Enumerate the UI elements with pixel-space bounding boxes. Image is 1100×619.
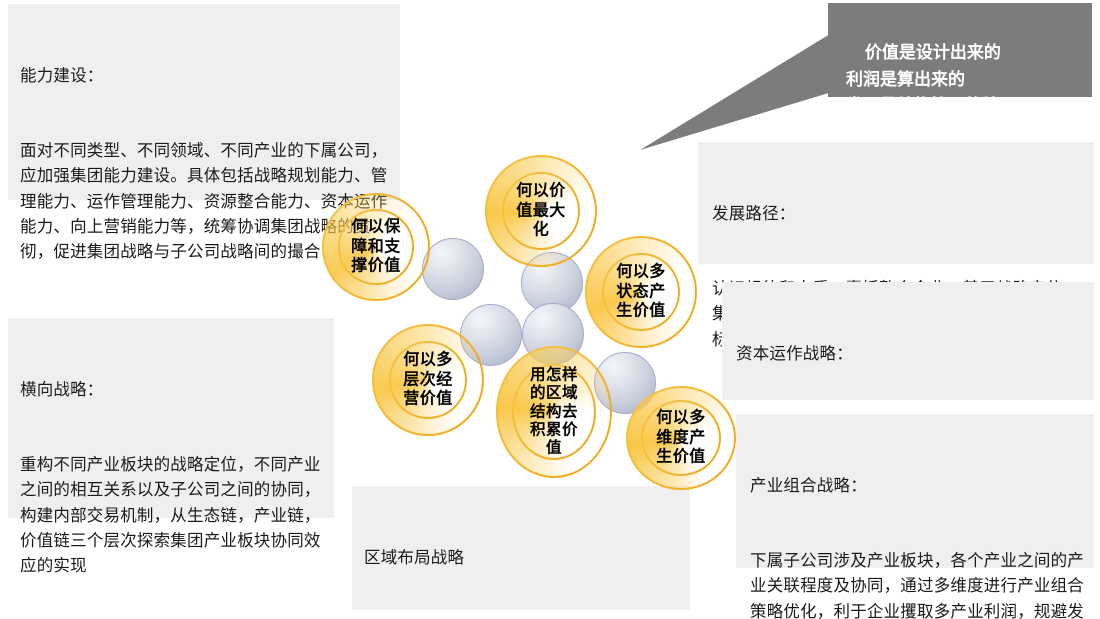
- panel-regional-layout-strategy: 区域布局战略 应该形成怎样的区域布局才能使得自己发展空间最大化，机遇相对充沛，风…: [352, 486, 690, 610]
- ring-maximize-value[interactable]: 何以价 值最大 化: [485, 155, 597, 267]
- panel-title: 发展路径：: [712, 202, 1084, 227]
- panel-capability-building: 能力建设： 面对不同类型、不同领域、不同产业的下属公司，应加强集团能力建设。具体…: [8, 4, 400, 200]
- panel-horizontal-strategy: 横向战略： 重构不同产业板块的战略定位，不同产业之间的相互关系以及子公司之间的协…: [8, 318, 334, 518]
- slide-canvas: 能力建设： 面对不同类型、不同领域、不同产业的下属公司，应加强集团能力建设。具体…: [0, 0, 1100, 619]
- ring-regional-structure-value[interactable]: 用怎样 的区域 结构去 积累价 值: [496, 346, 612, 478]
- ring-label: 何以多 维度产 生价值: [626, 409, 736, 468]
- callout-text: 价值是设计出来的 利润是算出来的 发展是结构管理的结果: [846, 43, 1016, 115]
- value-statement-callout: 价值是设计出来的 利润是算出来的 发展是结构管理的结果: [828, 3, 1092, 97]
- panel-title: 区域布局战略: [364, 546, 680, 571]
- panel-body: 下属子公司涉及产业板块，各个产业之间的产业关联程度及协同，通过多维度进行产业组合…: [750, 549, 1084, 619]
- ring-multi-level-operation[interactable]: 何以多 层次经 营价值: [372, 324, 484, 436]
- panel-capital-operation-strategy: 资本运作战略： 用资本驱动优势金融资源，有效利用多层次资本市场体系，探究未来的资…: [722, 282, 1094, 400]
- sphere-node-1: [422, 238, 484, 300]
- ring-label: 何以多 状态产 生价值: [585, 263, 697, 322]
- panel-development-path: 发展路径： 认识规律和本质，囊括整个企业，基于战略定位，集中解决企业走什么样的路…: [698, 142, 1094, 264]
- ring-label: 用怎样 的区域 结构去 积累价 值: [496, 366, 612, 457]
- panel-industry-portfolio-strategy: 产业组合战略： 下属子公司涉及产业板块，各个产业之间的产业关联程度及协同，通过多…: [736, 414, 1094, 568]
- panel-title: 产业组合战略：: [750, 474, 1084, 499]
- ring-multi-dimension-value[interactable]: 何以多 维度产 生价值: [626, 386, 736, 490]
- panel-title: 能力建设：: [20, 64, 388, 89]
- ring-multi-state-value[interactable]: 何以多 状态产 生价值: [585, 236, 697, 348]
- panel-title: 横向战略：: [20, 378, 322, 403]
- panel-body: 重构不同产业板块的战略定位，不同产业之间的相互关系以及子公司之间的协同，构建内部…: [20, 453, 322, 578]
- ring-label: 何以多 层次经 营价值: [372, 351, 484, 410]
- ring-label: 何以价 值最大 化: [485, 182, 597, 241]
- ring-label: 何以保 障和支 撑价值: [322, 218, 430, 277]
- panel-title: 资本运作战略：: [736, 342, 1084, 367]
- ring-guarantee-support-value[interactable]: 何以保 障和支 撑价值: [322, 193, 430, 301]
